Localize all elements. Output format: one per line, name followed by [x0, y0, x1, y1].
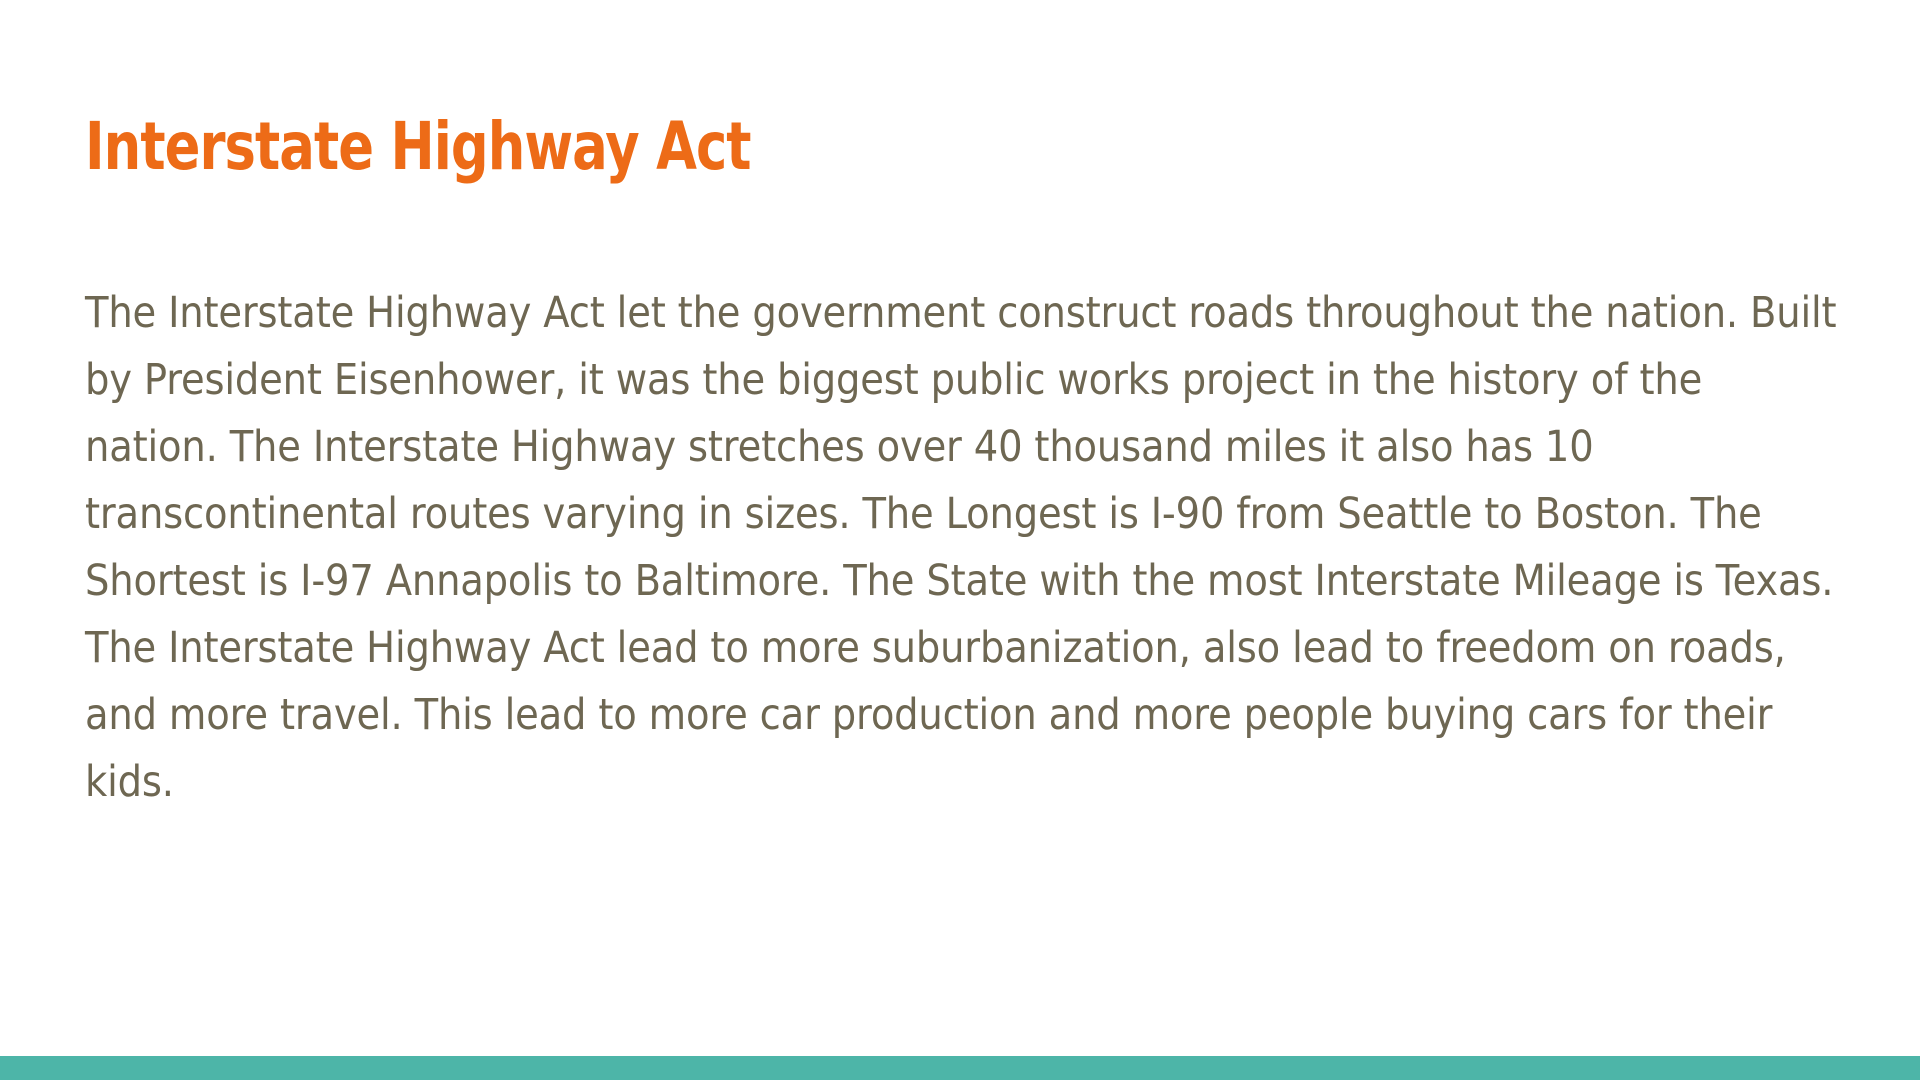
slide-body-text: The Interstate Highway Act let the gover… [85, 280, 1839, 816]
accent-bar-bottom [0, 1056, 1920, 1080]
page-title: Interstate Highway Act [85, 108, 1445, 186]
slide-canvas: Interstate Highway Act The Interstate Hi… [0, 0, 1920, 1080]
